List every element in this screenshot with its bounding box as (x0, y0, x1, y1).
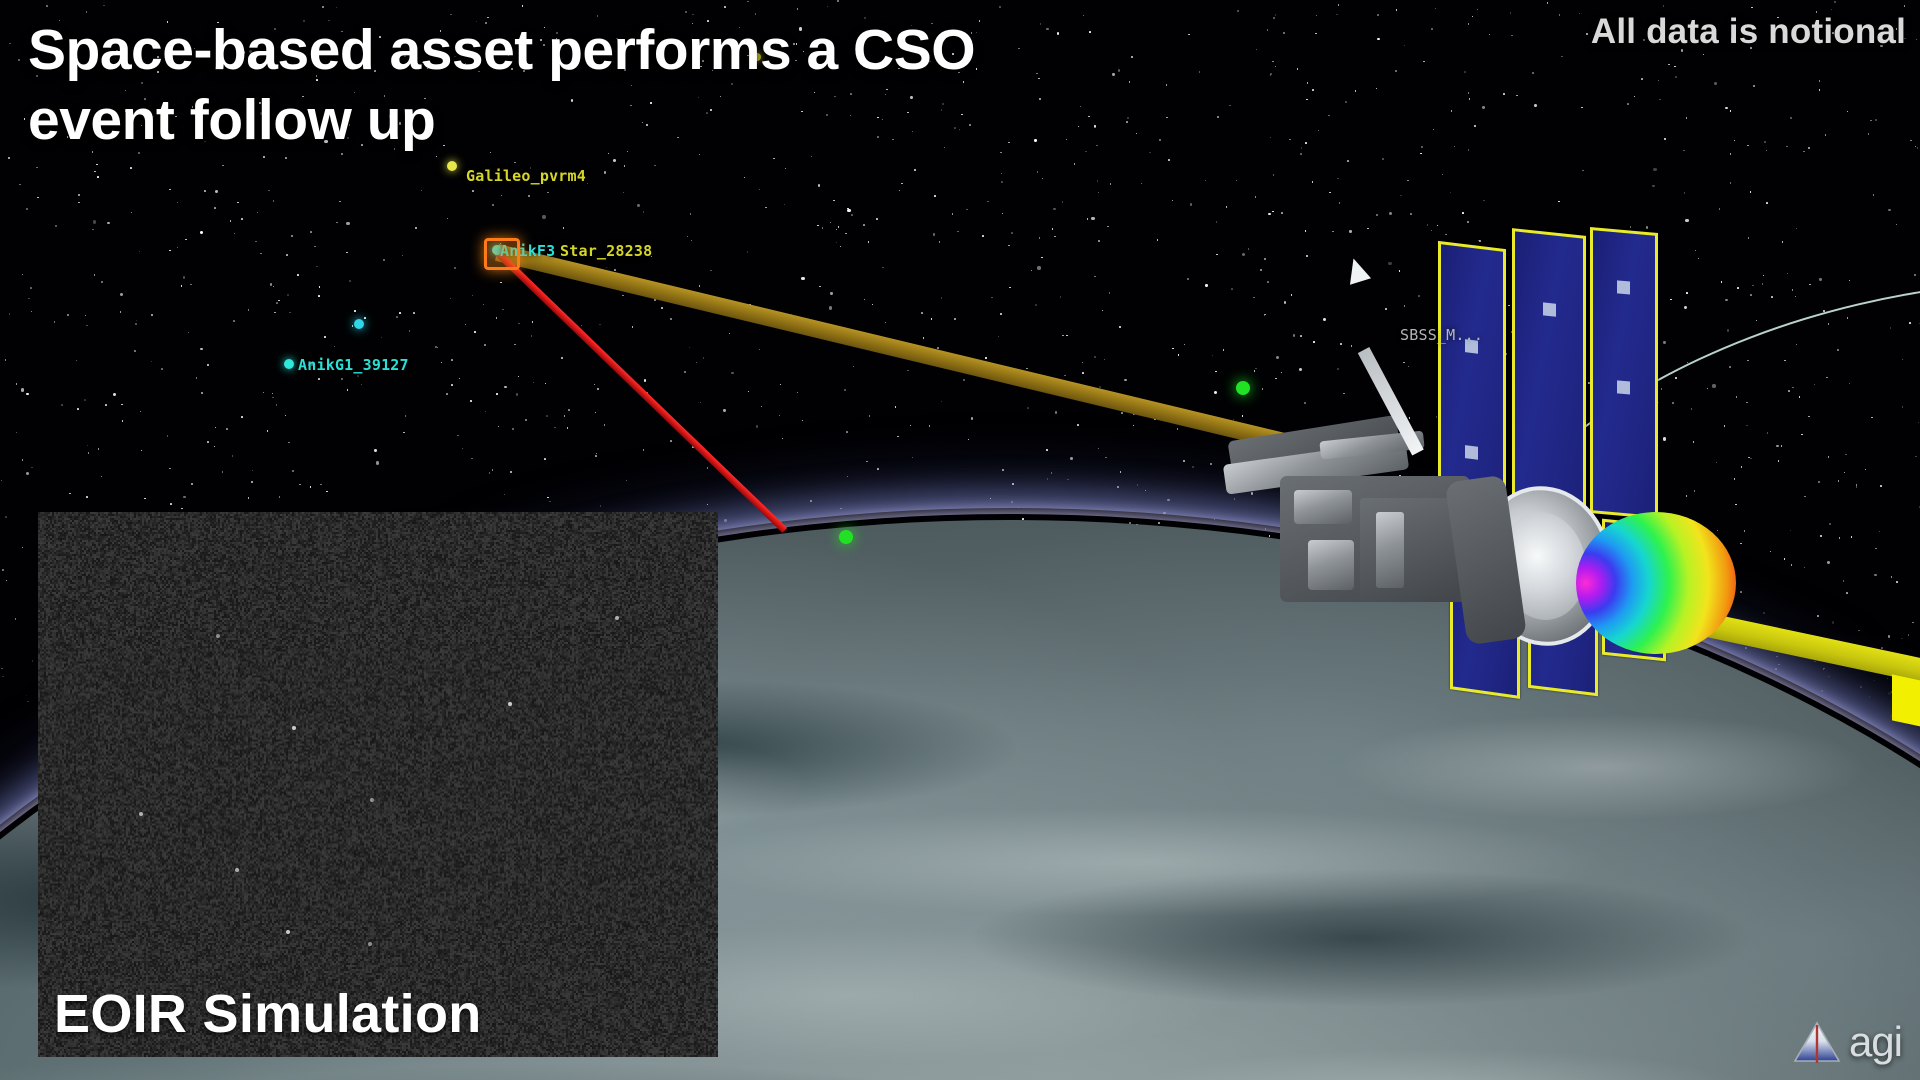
star (1053, 208, 1055, 210)
star (707, 467, 709, 469)
star (9, 313, 11, 315)
star (1474, 125, 1476, 127)
star (836, 242, 838, 244)
star (403, 432, 405, 434)
star (1098, 240, 1100, 242)
star (968, 439, 970, 441)
star (1039, 237, 1041, 239)
eoir-panel-label: EOIR Simulation (54, 983, 482, 1045)
star (1145, 490, 1147, 492)
star (1503, 93, 1505, 95)
star (587, 183, 589, 185)
star (1119, 326, 1121, 328)
star (1367, 228, 1369, 230)
sensor-fov-lobe (1576, 512, 1736, 654)
star (492, 204, 494, 206)
star (819, 286, 821, 288)
star (899, 190, 901, 192)
star (190, 284, 192, 286)
object-label-galileo[interactable]: Galileo_pvrm4 (466, 167, 586, 185)
star (101, 476, 103, 478)
star (811, 156, 813, 158)
star (1431, 230, 1433, 232)
star (847, 209, 850, 212)
star (1273, 174, 1275, 176)
star (941, 297, 943, 299)
star (1451, 110, 1453, 112)
green-dot-1[interactable] (1236, 381, 1250, 395)
star (1082, 372, 1084, 374)
downlink-beam-terminator (1892, 674, 1920, 727)
star (134, 350, 136, 352)
star (941, 401, 943, 403)
star (200, 231, 203, 234)
star (637, 204, 639, 206)
star (1328, 115, 1330, 117)
star (685, 11, 687, 13)
star (626, 480, 628, 482)
star (1037, 171, 1039, 173)
star (829, 306, 832, 309)
star (451, 359, 453, 361)
star (703, 357, 705, 359)
star (689, 347, 691, 349)
star (136, 320, 138, 322)
agi-logo[interactable]: agi (1792, 1018, 1902, 1066)
star (1339, 202, 1341, 204)
star (1074, 163, 1076, 165)
star (604, 424, 606, 426)
star (1796, 228, 1798, 230)
star (1468, 149, 1470, 151)
star (86, 325, 88, 327)
star (1685, 219, 1688, 222)
star (895, 406, 897, 408)
page-title: Space-based asset performs a CSO event f… (28, 16, 1328, 155)
star (1281, 372, 1283, 374)
star (1534, 104, 1537, 107)
star (1210, 463, 1212, 465)
star (77, 408, 79, 410)
star (501, 195, 503, 197)
star (1825, 134, 1827, 136)
eoir-star-detection (508, 702, 512, 706)
star (1223, 349, 1225, 351)
star (383, 259, 385, 261)
star (567, 427, 569, 429)
object-label-star28238[interactable]: Star_28238 (560, 242, 652, 260)
star (31, 467, 33, 469)
star (37, 197, 39, 199)
star (744, 177, 746, 179)
star (500, 282, 502, 284)
star (1730, 110, 1732, 112)
star (818, 184, 820, 186)
star (957, 231, 959, 233)
star (691, 240, 693, 242)
star (251, 481, 253, 483)
star (822, 227, 824, 229)
star (853, 366, 855, 368)
star (437, 347, 439, 349)
star (93, 220, 96, 223)
star (484, 344, 486, 346)
star (1205, 284, 1207, 286)
star (436, 156, 438, 158)
agi-logo-text: agi (1849, 1018, 1902, 1066)
star (144, 498, 146, 500)
star (336, 222, 338, 224)
star (827, 6, 829, 8)
star (267, 430, 269, 432)
star (376, 461, 379, 464)
star (606, 267, 608, 269)
star (181, 508, 183, 510)
star (1420, 153, 1422, 155)
star (263, 392, 265, 394)
star (1382, 158, 1384, 160)
star (88, 452, 90, 454)
star (1469, 98, 1471, 100)
star (274, 312, 276, 314)
star (24, 118, 26, 120)
star (1532, 72, 1534, 74)
star (544, 458, 546, 460)
star (324, 336, 326, 338)
star (1916, 39, 1918, 41)
star (1237, 10, 1239, 12)
star (364, 317, 366, 319)
star (1109, 292, 1111, 294)
star (1268, 213, 1270, 215)
star (546, 415, 548, 417)
star (26, 472, 29, 475)
star (1483, 200, 1485, 202)
star (914, 169, 916, 171)
star (1052, 228, 1054, 230)
star (105, 404, 107, 406)
star (1396, 9, 1398, 11)
star (87, 445, 89, 447)
star (643, 211, 645, 213)
star (1216, 254, 1218, 256)
star (1404, 45, 1406, 47)
star (622, 295, 624, 297)
star (1329, 192, 1331, 194)
star (140, 411, 142, 413)
star (1703, 54, 1705, 56)
star (939, 241, 941, 243)
object-dot-anikg1[interactable] (284, 359, 294, 369)
star (1104, 359, 1106, 361)
star (1011, 501, 1013, 503)
star (248, 309, 250, 311)
star (1008, 245, 1010, 247)
star (462, 448, 464, 450)
star (86, 496, 88, 498)
star (1338, 4, 1340, 6)
star (310, 231, 312, 233)
star (1062, 201, 1064, 203)
star (113, 393, 116, 396)
star (514, 162, 516, 164)
star (1400, 195, 1402, 197)
star (937, 347, 939, 349)
star (840, 246, 842, 248)
star (670, 318, 672, 320)
eoir-star-detection (216, 634, 220, 638)
star (26, 208, 28, 210)
star (1001, 173, 1003, 175)
star (320, 484, 322, 486)
star (1663, 5, 1665, 7)
star (1064, 375, 1066, 377)
green-dot-2[interactable] (839, 530, 853, 544)
star (1009, 287, 1011, 289)
star (1236, 180, 1238, 182)
star (837, 0, 839, 2)
star (1094, 276, 1096, 278)
star (1659, 99, 1661, 101)
object-label-sbss[interactable]: SBSS_M... (1400, 326, 1483, 344)
star (222, 471, 224, 473)
star (1098, 448, 1100, 450)
star (1547, 2, 1549, 4)
star (230, 220, 232, 222)
star (1634, 96, 1636, 98)
star (595, 455, 597, 457)
star (1312, 181, 1314, 183)
star (326, 491, 328, 493)
star (1168, 159, 1170, 161)
star (287, 294, 289, 296)
star (19, 184, 21, 186)
star (1060, 296, 1062, 298)
star (624, 165, 626, 167)
star (169, 250, 171, 252)
star (1253, 297, 1255, 299)
star (1107, 226, 1109, 228)
star (817, 225, 819, 227)
star (316, 266, 318, 268)
object-label-anikg1[interactable]: AnikG1_39127 (298, 356, 409, 374)
star (1037, 266, 1040, 269)
star (784, 204, 786, 206)
star (1226, 206, 1228, 208)
star (1847, 111, 1849, 113)
star (531, 335, 533, 337)
star (177, 202, 179, 204)
star (632, 326, 634, 328)
star (840, 508, 842, 510)
star (339, 201, 341, 203)
star (1172, 200, 1174, 202)
star (85, 315, 87, 317)
star (877, 468, 879, 470)
star (1683, 150, 1685, 152)
star (868, 241, 870, 243)
star (1686, 117, 1688, 119)
star (1234, 498, 1236, 500)
star (838, 226, 840, 228)
star (1714, 82, 1717, 85)
star (1719, 208, 1721, 210)
star (1184, 344, 1186, 346)
star (1272, 211, 1274, 213)
star (260, 253, 262, 255)
star (670, 440, 672, 442)
space-scene-viewport[interactable]: Galileo_pvrm4AnikF3Star_28238AnikG1_3912… (0, 0, 1920, 1080)
star (292, 470, 294, 472)
star (910, 425, 912, 427)
star (700, 402, 702, 404)
star (1337, 178, 1339, 180)
star (1658, 80, 1660, 82)
star (5, 359, 7, 361)
star (120, 311, 122, 313)
star (103, 5, 105, 7)
star (597, 388, 599, 390)
star (1790, 117, 1792, 119)
star (222, 165, 224, 167)
star (498, 426, 500, 428)
star (755, 13, 757, 15)
star (61, 404, 63, 406)
eoir-sensor-noise (38, 512, 718, 1057)
star (1868, 133, 1870, 135)
star (446, 393, 448, 395)
star (1066, 335, 1068, 337)
star (1753, 85, 1755, 87)
star (1242, 253, 1245, 256)
star (1431, 28, 1433, 30)
star (999, 6, 1001, 8)
star (1450, 192, 1452, 194)
eoir-star-detection (615, 616, 619, 620)
star (31, 311, 33, 313)
star (1255, 368, 1257, 370)
star (270, 283, 272, 285)
star (1002, 469, 1004, 471)
star (336, 7, 338, 9)
page-title-line-1: Space-based asset performs a CSO (28, 16, 1328, 86)
star (361, 384, 363, 386)
star (1098, 192, 1100, 194)
object-dot-galileo[interactable] (447, 161, 457, 171)
star (1183, 460, 1185, 462)
star (177, 247, 179, 249)
solar-cell (1617, 280, 1630, 294)
star (525, 419, 527, 421)
star (465, 324, 467, 326)
star (399, 312, 401, 314)
star (882, 267, 884, 269)
star (1248, 248, 1250, 250)
star (1055, 411, 1057, 413)
star (454, 267, 456, 269)
eoir-simulation-panel[interactable]: EOIR Simulation (38, 512, 718, 1057)
star (451, 384, 453, 386)
star (1462, 212, 1464, 214)
cyan-dot-1[interactable] (354, 319, 364, 329)
star (907, 370, 909, 372)
star (255, 241, 257, 243)
star (1275, 378, 1277, 380)
star (1054, 236, 1056, 238)
star (780, 384, 782, 386)
star (797, 392, 799, 394)
star (5, 516, 7, 518)
star (1875, 119, 1877, 121)
star (78, 194, 80, 196)
star (441, 362, 443, 364)
star (1579, 13, 1581, 15)
star (844, 389, 846, 391)
satellite-model-sbss[interactable] (1290, 240, 1810, 710)
star (564, 415, 566, 417)
star (170, 503, 172, 505)
star (1190, 203, 1192, 205)
star (30, 287, 32, 289)
star (687, 236, 689, 238)
star (568, 409, 570, 411)
star (1433, 129, 1435, 131)
star (322, 6, 324, 8)
star (291, 235, 293, 237)
star (724, 6, 726, 8)
star (845, 233, 847, 235)
star (21, 388, 24, 391)
star (1215, 371, 1217, 373)
star (846, 431, 848, 433)
star (1376, 88, 1378, 90)
star (489, 472, 491, 474)
notional-disclaimer: All data is notional (1591, 12, 1906, 52)
star (1117, 486, 1119, 488)
star (1751, 7, 1753, 9)
star (263, 156, 265, 158)
star (512, 428, 514, 430)
star (833, 200, 835, 202)
pointing-arrow-head (1343, 255, 1371, 284)
star (1, 480, 3, 482)
star (185, 239, 187, 241)
star (402, 255, 404, 257)
star (1904, 5, 1906, 7)
star (459, 378, 461, 380)
star (1284, 301, 1286, 303)
star (982, 235, 984, 237)
star (413, 312, 415, 314)
star (872, 304, 874, 306)
star (729, 333, 731, 335)
solar-cell (1543, 302, 1556, 316)
star (1819, 80, 1821, 82)
star (1212, 355, 1214, 357)
star (94, 171, 96, 173)
star (599, 324, 601, 326)
star (897, 436, 899, 438)
star (690, 213, 692, 215)
star (299, 484, 301, 486)
star (1012, 483, 1014, 485)
star (931, 318, 933, 320)
star (1786, 146, 1788, 148)
star (289, 312, 291, 314)
star (563, 227, 565, 229)
star (1581, 107, 1583, 109)
star (1914, 274, 1916, 276)
